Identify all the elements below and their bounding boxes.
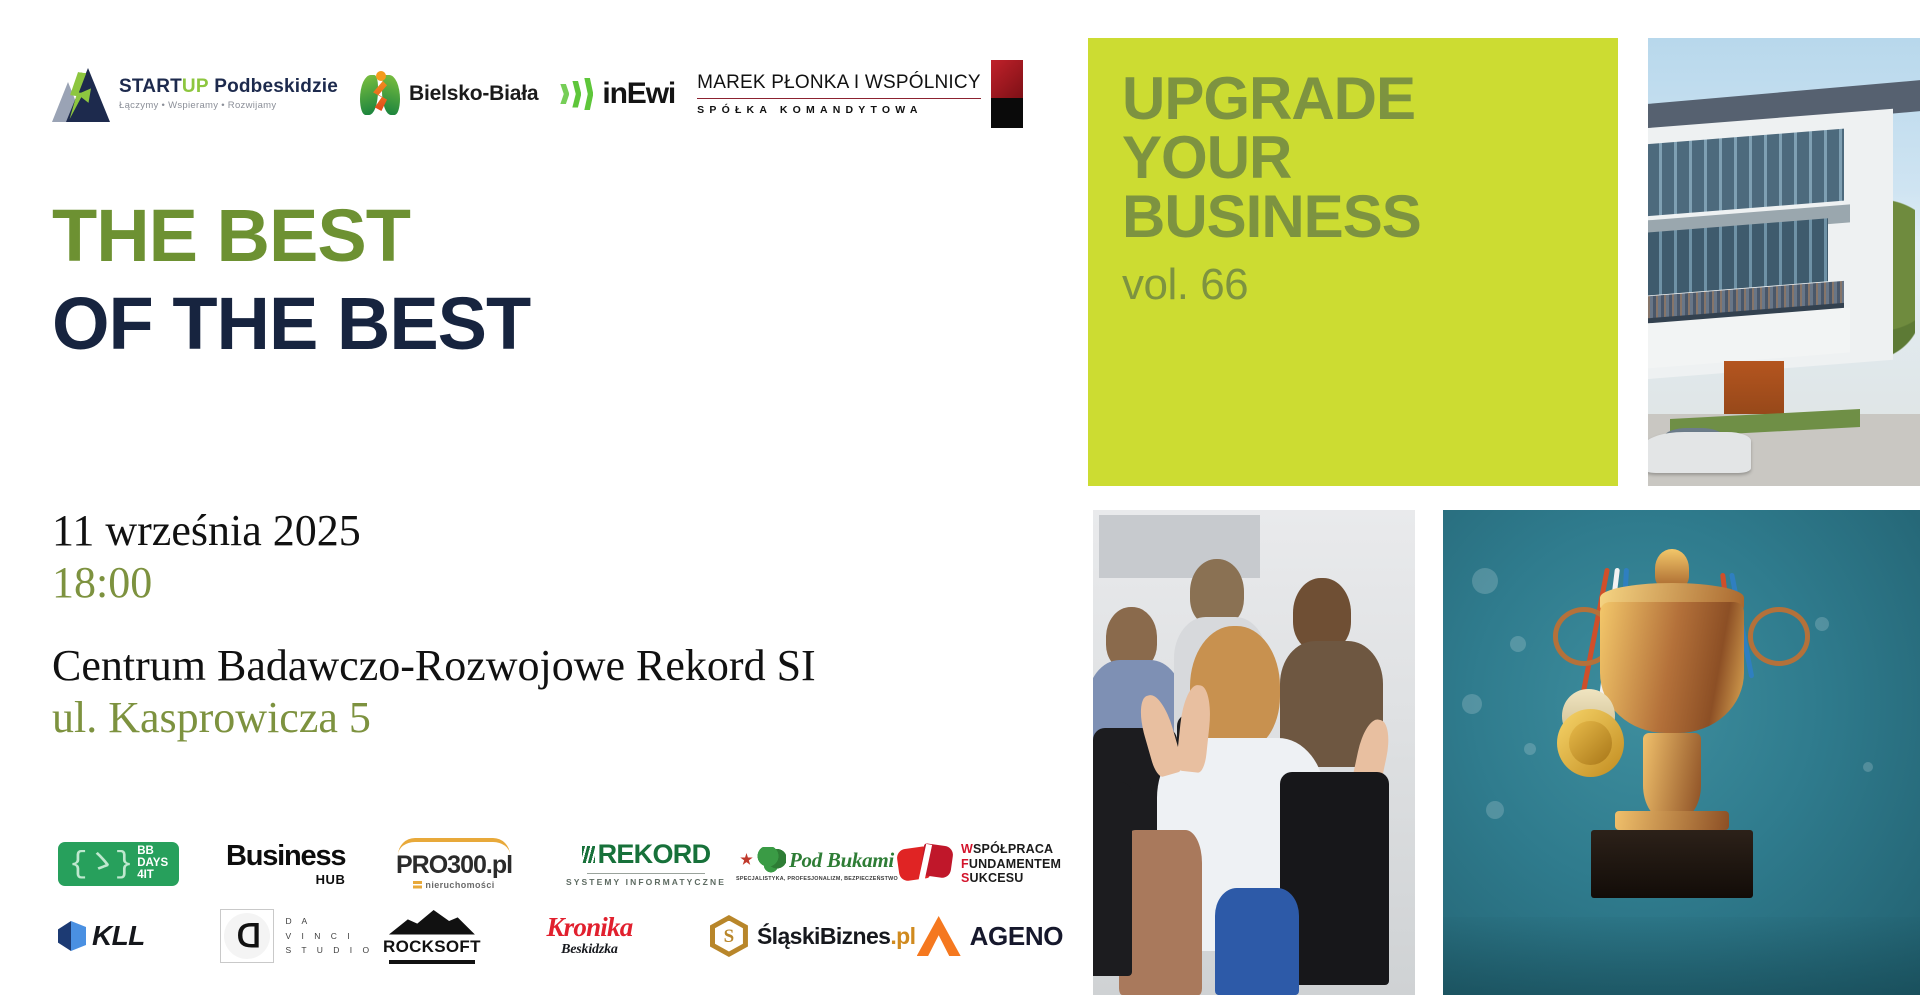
marek-plonka-form: SPÓŁKA KOMANDYTOWA: [697, 104, 981, 116]
kll-word: KLL: [92, 920, 145, 952]
logo-inewi: inEwi: [560, 58, 675, 130]
logo-bielsko-biala: Bielsko-Biała: [360, 58, 538, 130]
business-hub-sub: HUB: [316, 872, 346, 887]
handshake-icon: [898, 842, 952, 886]
pod-bukami-word: Pod Bukami: [789, 848, 894, 873]
logo-da-vinci-studio: ᗡ D A V I N C I S T U D I O: [220, 900, 383, 972]
hero-line-3: BUSINESS: [1122, 188, 1421, 247]
slaskibiznes-tld: .pl: [890, 923, 915, 949]
poster-headline: THE BEST OF THE BEST: [52, 200, 530, 360]
ageno-word: AGENO: [970, 921, 1063, 952]
logo-pro300: PRO300.pl nieruchomości: [396, 828, 566, 900]
slaskibiznes-word: ŚląskiBiznes.pl: [757, 923, 915, 950]
da-vinci-monogram-icon: ᗡ: [220, 909, 274, 963]
slaskibiznes-main: ŚląskiBiznes: [757, 923, 890, 949]
wfs-line-1: WSPÓŁPRACA: [961, 842, 1061, 857]
pod-bukami-tree-icon: [756, 847, 786, 873]
poster-canvas: STARTUP Podbeskidzie Łączymy • Wspieramy…: [0, 0, 1920, 1005]
wfs-w: W: [961, 842, 973, 856]
hero-volume: vol. 66: [1122, 260, 1421, 310]
wfs-line-3: SUKCESU: [961, 871, 1061, 886]
bb-days-line-3: 4IT: [137, 870, 168, 882]
marek-plonka-rule: [697, 98, 981, 100]
pod-bukami-sub: SPECJALISTYKA, PROFESJONALIZM, BEZPIECZE…: [736, 876, 898, 882]
da-vinci-line-3: S T U D I O: [286, 943, 374, 958]
startup-word-start: START: [119, 76, 182, 97]
da-vinci-glyph: ᗡ: [237, 920, 257, 952]
pro300-sub: nieruchomości: [425, 880, 494, 890]
logo-bb-days-4it: {ゝ} BB DAYS 4IT: [58, 828, 226, 900]
wfs-f: F: [961, 857, 969, 871]
logo-rekord: REKORD SYSTEMY INFORMATYCZNE: [566, 828, 736, 900]
ageno-a-icon: [917, 916, 961, 956]
logo-rocksoft: ROCKSOFT: [383, 900, 546, 972]
wfs-line-2: FUNDAMENTEM: [961, 857, 1061, 872]
da-vinci-line-1: D A: [286, 914, 374, 929]
logo-kronika-beskidzka: Kronika Beskidzka: [546, 900, 709, 972]
rekord-sub: SYSTEMY INFORMATYCZNE: [566, 877, 726, 887]
pod-bukami-star-icon: [740, 853, 753, 866]
photo-trophy: Gold trophy cup with medals on teal back…: [1443, 510, 1920, 995]
event-address: ul. Kasprowicza 5: [52, 692, 816, 744]
slaskibiznes-hex-icon: S: [710, 915, 748, 957]
wfs-f-rest: UNDAMENTEM: [969, 857, 1061, 871]
sponsor-row-2: KLL ᗡ D A V I N C I S T U D I O: [58, 900, 1063, 972]
logo-marek-plonka: MAREK PŁONKA I WSPÓLNICY SPÓŁKA KOMANDYT…: [697, 58, 1023, 130]
kll-mark-icon: [58, 921, 86, 951]
startup-word-podbeskidzie: Podbeskidzie: [209, 76, 338, 97]
slaskibiznes-s: S: [724, 927, 735, 946]
event-venue: Centrum Badawczo-Rozwojowe Rekord SI: [52, 640, 816, 692]
bielsko-biala-leaf-figure-icon: [360, 71, 400, 117]
logo-wspolpraca-fundamentem-sukcesu: WSPÓŁPRACA FUNDAMENTEM SUKCESU: [898, 828, 1061, 900]
startup-podbeskidzie-tagline: Łączymy • Wspieramy • Rozwijamy: [119, 100, 338, 111]
pro300-bars-icon: [413, 881, 422, 890]
left-column: STARTUP Podbeskidzie Łączymy • Wspieramy…: [0, 0, 1080, 1005]
top-partner-logo-strip: STARTUP Podbeskidzie Łączymy • Wspieramy…: [52, 58, 1023, 130]
hero-line-2: YOUR: [1122, 129, 1421, 188]
business-hub-word: Business: [226, 842, 345, 871]
pro300-word: PRO300.pl: [396, 853, 512, 878]
startup-word-up: UP: [182, 76, 209, 97]
event-time: 18:00: [52, 557, 361, 609]
rekord-word: REKORD: [598, 841, 711, 868]
wfs-s-rest: UKCESU: [970, 871, 1024, 885]
photo-building: Modern office building with people stand…: [1648, 38, 1920, 486]
logo-business-hub: Business HUB: [226, 828, 396, 900]
event-location: Centrum Badawczo-Rozwojowe Rekord SI ul.…: [52, 640, 816, 744]
rekord-rule: [587, 873, 705, 874]
rocksoft-bar: [389, 960, 475, 964]
headline-line-1: THE BEST: [52, 200, 530, 272]
bb-days-braces-icon: {ゝ}: [69, 849, 131, 880]
rekord-bars-icon: [582, 846, 595, 863]
event-datetime: 11 września 2025 18:00: [52, 505, 361, 609]
beskidzka-word: Beskidzka: [561, 942, 618, 958]
wfs-s: S: [961, 871, 970, 885]
headline-line-2: OF THE BEST: [52, 288, 530, 360]
sponsor-row-1: {ゝ} BB DAYS 4IT Business HUB: [58, 828, 1063, 900]
kronika-word: Kronika: [546, 914, 632, 941]
rocksoft-word: ROCKSOFT: [383, 937, 481, 957]
upgrade-your-business-panel: UPGRADE YOUR BUSINESS vol. 66: [1088, 38, 1618, 486]
logo-slaskibiznes: S ŚląskiBiznes.pl: [710, 900, 917, 972]
logo-kll: KLL: [58, 900, 220, 972]
marek-plonka-name: MAREK PŁONKA I WSPÓLNICY: [697, 72, 981, 98]
logo-startup-podbeskidzie: STARTUP Podbeskidzie Łączymy • Wspieramy…: [52, 58, 338, 130]
startup-podbeskidzie-wordmark: STARTUP Podbeskidzie: [119, 77, 338, 97]
logo-ageno: AGENO: [917, 900, 1063, 972]
inewi-chevrons-icon: [560, 78, 596, 110]
logo-pod-bukami: Pod Bukami SPECJALISTYKA, PROFESJONALIZM…: [736, 828, 898, 900]
event-date: 11 września 2025: [52, 505, 361, 557]
bielsko-biala-wordmark: Bielsko-Biała: [409, 82, 538, 106]
marek-plonka-square-icon: [991, 60, 1023, 128]
wfs-w-rest: SPÓŁPRACA: [973, 842, 1053, 856]
startup-podbeskidzie-mountain-arrow-icon: [52, 66, 110, 122]
da-vinci-line-2: V I N C I: [286, 929, 374, 944]
rocksoft-mountain-icon: [389, 909, 475, 935]
hero-line-1: UPGRADE: [1122, 70, 1421, 129]
inewi-wordmark: inEwi: [602, 77, 675, 111]
photo-audience: Seated conference audience applauding: [1093, 510, 1415, 995]
sponsor-logo-grid: {ゝ} BB DAYS 4IT Business HUB: [58, 828, 1063, 972]
